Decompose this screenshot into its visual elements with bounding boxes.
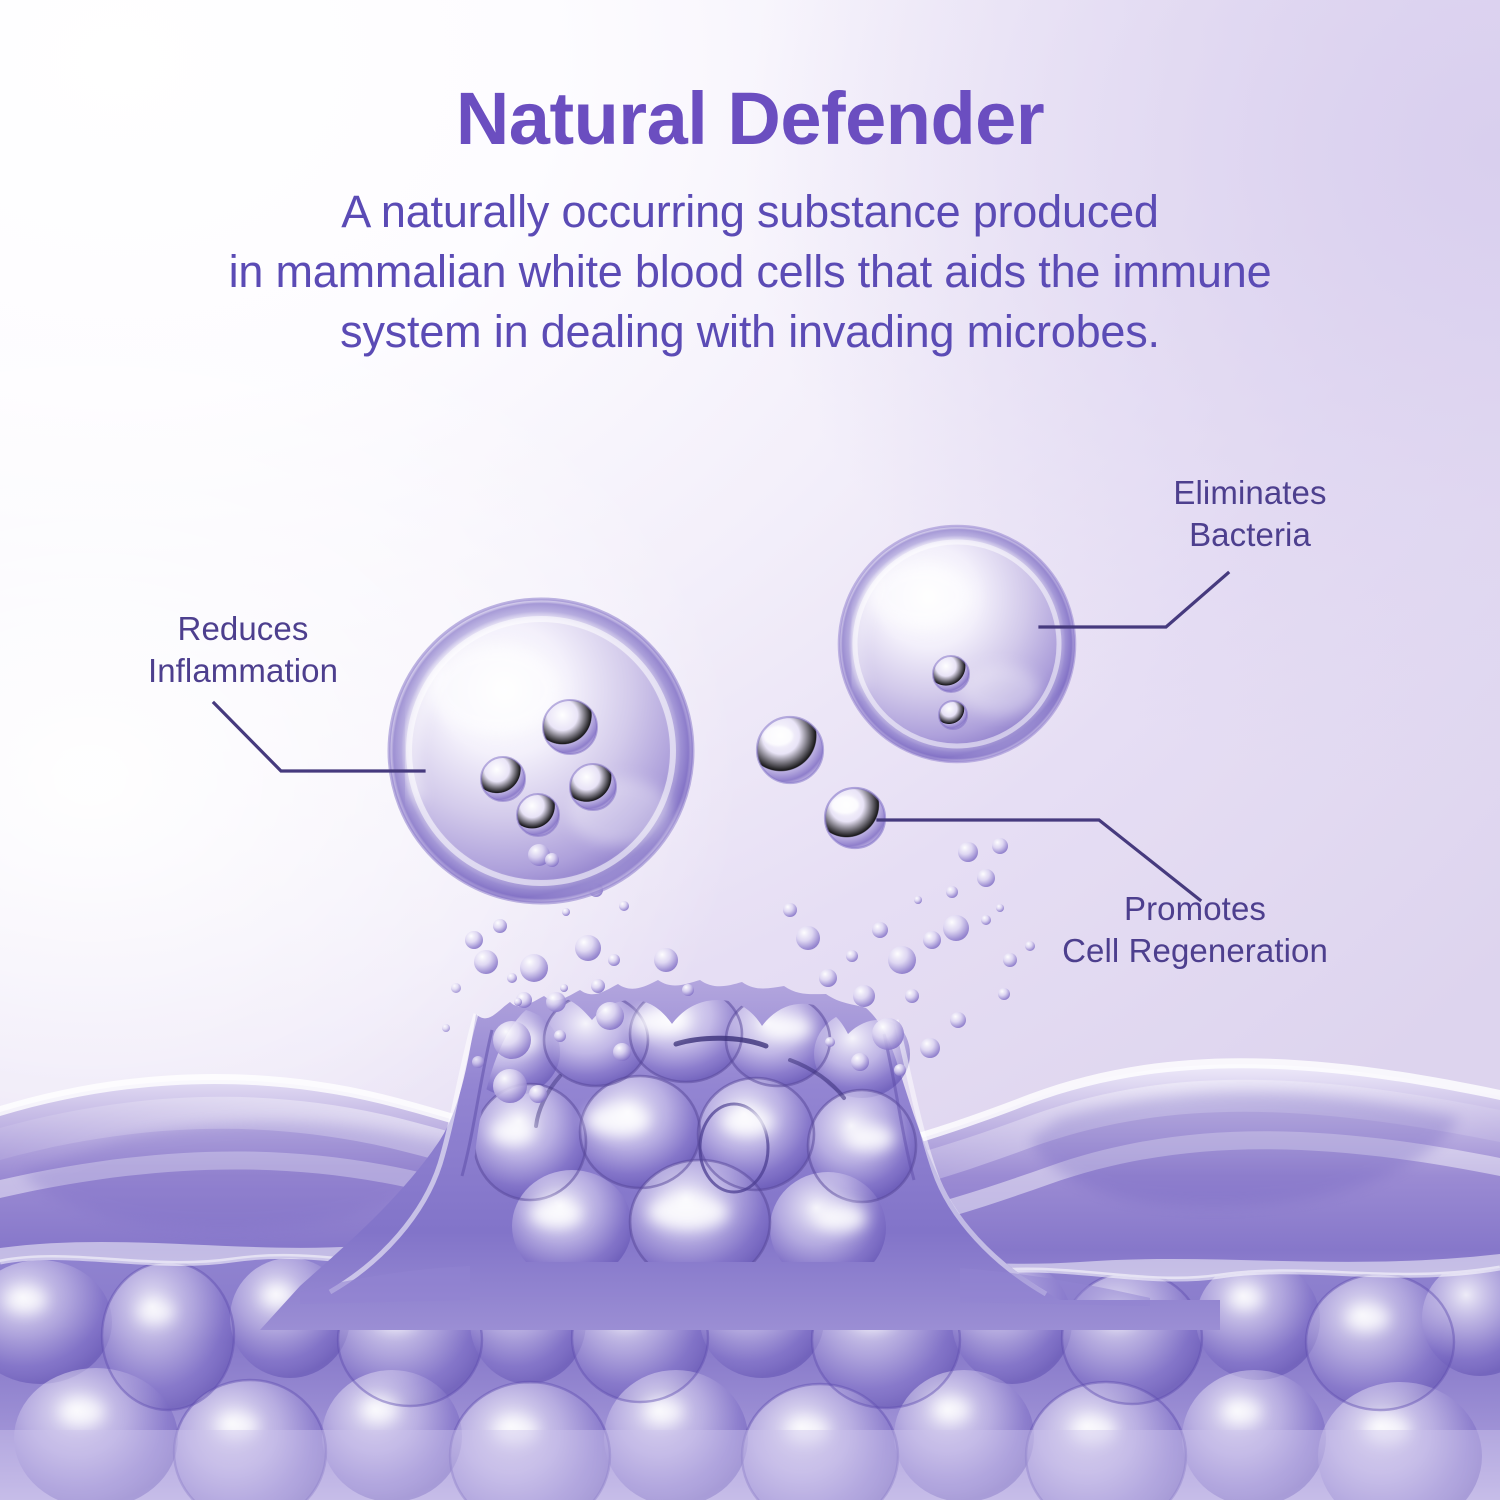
callout-eliminates-bacteria: Eliminates Bacteria — [1060, 472, 1440, 555]
page-title: Natural Defender — [0, 0, 1500, 156]
callout-line-2: Bacteria — [1060, 514, 1440, 556]
callout-line-2: Cell Regeneration — [995, 930, 1395, 972]
callout-line-1: Promotes — [995, 888, 1395, 930]
subtitle-line-3: system in dealing with invading microbes… — [70, 302, 1430, 362]
callout-line-1: Eliminates — [1060, 472, 1440, 514]
callout-line-2: Inflammation — [58, 650, 428, 692]
header-block: Natural Defender A naturally occurring s… — [0, 0, 1500, 362]
infographic-canvas: Natural Defender A naturally occurring s… — [0, 0, 1500, 1500]
subtitle-line-1: A naturally occurring substance produced — [70, 182, 1430, 242]
callout-reduces-inflammation: Reduces Inflammation — [58, 608, 428, 691]
subtitle-line-2: in mammalian white blood cells that aids… — [70, 242, 1430, 302]
callout-line-1: Reduces — [58, 608, 428, 650]
callout-promotes-cell-regeneration: Promotes Cell Regeneration — [995, 888, 1395, 971]
page-subtitle: A naturally occurring substance produced… — [70, 182, 1430, 362]
